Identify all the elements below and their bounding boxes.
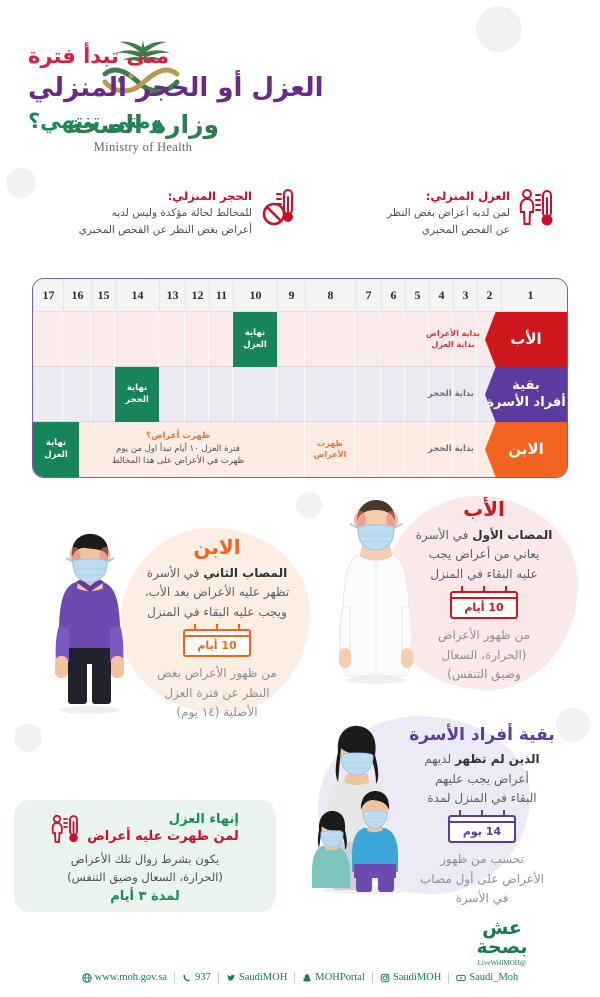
gridline xyxy=(184,367,185,421)
calendar-rings-icon xyxy=(185,624,249,631)
father-start-note: بداية الأعراض بداية العزل xyxy=(421,312,485,367)
day-label: 6 xyxy=(381,279,405,312)
card-lead-son: المصاب الثاني في الأسرة تظهر عليه الأعرا… xyxy=(128,564,306,622)
card-son: الابن المصاب الثاني في الأسرة تظهر عليه … xyxy=(128,534,306,723)
body-line-1: يكون بشرط زوال تلك الأعراض xyxy=(67,850,223,868)
thermometer-person-icon xyxy=(51,813,81,845)
footer-label: Saudi_Moh xyxy=(469,972,518,983)
gridline xyxy=(380,367,381,421)
timeline-tag-family: بقية أفراد الأسرة xyxy=(485,367,567,422)
calendar-family: 14 يوم xyxy=(448,815,516,843)
legend-body-line-2: عن الفحص المخبري xyxy=(387,222,510,238)
legend: العزل المنزلي: لمن لديه أعراض بغض النظر … xyxy=(0,186,600,256)
snapchat-icon xyxy=(302,973,312,983)
live-well-logo-line-2: بصحة xyxy=(452,938,552,957)
card-title-father: الأب xyxy=(398,496,570,522)
gridline xyxy=(90,312,91,366)
page-header: وزارة الصحة Ministry of Health متى تبدأ … xyxy=(0,0,600,178)
day-label: 10 xyxy=(233,279,277,312)
gridline xyxy=(208,367,209,421)
end-cell-line-2: الحجر xyxy=(125,395,149,406)
youtube-icon xyxy=(456,973,466,983)
lead-line-2: يعاني من أعراض يجب xyxy=(398,545,570,564)
father-end-of-isolation-cell: نهاية العزل xyxy=(233,312,277,367)
lead-bold: المصاب الأول xyxy=(472,528,552,542)
tag-line-1: بقية xyxy=(486,378,565,394)
note-line-1: بداية الحجر xyxy=(428,444,474,455)
legend-item-home-isolation: العزل المنزلي: لمن لديه أعراض بغض النظر … xyxy=(308,186,558,238)
footer-label: SaudiMOH xyxy=(239,972,287,983)
calendar-son: 10 أيام xyxy=(183,629,251,657)
card-father: الأب المصاب الأول في الأسرة يعاني من أعر… xyxy=(398,496,570,685)
note-line-1: بداية الحجر xyxy=(428,389,474,400)
gridline xyxy=(114,312,115,366)
calendar-value-son: 10 أيام xyxy=(185,637,249,655)
legend-title: العزل المنزلي: xyxy=(387,188,510,205)
tail-line-3: الأصلية (١٤ يوم) xyxy=(128,703,306,722)
legend-body-line-2: أعراض بغض النظر عن الفحص المخبري xyxy=(79,222,252,238)
gridline xyxy=(380,312,381,366)
end-of-isolation-title-green: إنهاء العزل xyxy=(87,812,239,829)
card-tail-son: من ظهور الأعراض بغض النظر عن فترة العزل … xyxy=(128,664,306,722)
calendar-value-father: 10 أيام xyxy=(452,599,516,617)
day-label: 2 xyxy=(477,279,501,312)
footer-label: SaudiMOH xyxy=(393,972,441,983)
gridline xyxy=(232,367,233,421)
end-of-isolation-header: إنهاء العزل لمن ظهرت عليه أعراض xyxy=(51,812,239,846)
legend-text-home-quarantine: الحجر المنزلي: للمخالط لحالة مؤكدة وليس … xyxy=(79,186,252,238)
timeline-header-row: 17 16 15 14 13 12 11 10 9 8 7 6 5 4 3 2 … xyxy=(33,279,567,312)
lead-bold: المصاب الثاني xyxy=(203,566,287,580)
end-of-isolation-text: إنهاء العزل لمن ظهرت عليه أعراض xyxy=(87,812,239,846)
virus-decoration-icon xyxy=(296,492,322,518)
son-start-note: بداية الحجر xyxy=(421,422,481,477)
card-tail-father: من ظهور الأعراض (الحرارة، السعال وضيق ال… xyxy=(398,626,570,684)
day-label: 11 xyxy=(209,279,233,312)
end-cell-line-2: العزل xyxy=(243,340,267,351)
detail-line-2: ظهرت في الأعراض على هذا المخالط xyxy=(112,455,245,467)
tail-line-3: وضيق التنفس) xyxy=(398,665,570,684)
calendar-rings-icon xyxy=(452,586,516,593)
gridline xyxy=(90,367,91,421)
gridline xyxy=(304,367,305,421)
live-well-logo: عش بصحة @LiveWellMOH xyxy=(452,919,552,967)
lead-line-3: البقاء في المنزل لمدة xyxy=(386,789,578,808)
infographic-page: وزارة الصحة Ministry of Health متى تبدأ … xyxy=(0,0,600,997)
card-lead-family: الذين لم تظهر لديهم أعراض يجب عليهم البق… xyxy=(386,750,578,808)
end-of-isolation-body: يكون بشرط زوال تلك الأعراض (الحرارة، الس… xyxy=(67,850,223,887)
calendar-father: 10 أيام xyxy=(450,591,518,619)
tail-line-1: من ظهور الأعراض xyxy=(398,626,570,645)
detail-question: ظهرت أعراض؟ xyxy=(146,431,210,443)
footer-label: www.moh.gov.sa xyxy=(95,972,167,983)
note-line-2: الأعراض xyxy=(314,450,347,461)
card-lead-father: المصاب الأول في الأسرة يعاني من أعراض يج… xyxy=(398,526,570,584)
note-line-2: بداية العزل xyxy=(431,340,474,351)
page-title: متى تبدأ فترة العزل أو الحجر المنزلي ومت… xyxy=(28,42,358,136)
page-footer: عش بصحة @LiveWellMOH www.moh.gov.sa 937 xyxy=(0,915,600,997)
calendar-rings-icon xyxy=(450,810,514,817)
legend-text-home-isolation: العزل المنزلي: لمن لديه أعراض بغض النظر … xyxy=(387,186,510,238)
instagram-icon xyxy=(380,973,390,983)
tail-line-1: من ظهور الأعراض بغض xyxy=(128,664,306,683)
lead-bold: الذين لم تظهر xyxy=(455,752,540,766)
lead-rest: في الأسرة xyxy=(416,528,469,542)
live-well-logo-line-1: عش xyxy=(452,919,552,938)
day-label: 8 xyxy=(305,279,355,312)
footer-label: MOHPortal xyxy=(315,972,365,983)
end-cell-line-1: نهاية xyxy=(245,328,265,339)
day-label: 3 xyxy=(453,279,477,312)
timeline-tag-son: الابن xyxy=(485,422,567,477)
note-line-1: ظهرت xyxy=(317,439,343,450)
card-title-son: الابن xyxy=(128,534,306,560)
family-start-note: بداية الحجر xyxy=(421,367,481,422)
lead-line-2: أعراض يجب عليهم xyxy=(386,770,578,789)
card-title-family: بقية أفراد الأسرة xyxy=(386,724,578,746)
day-label: 5 xyxy=(405,279,429,312)
day-label: 14 xyxy=(115,279,159,312)
gridline xyxy=(404,422,405,477)
footer-item-website[interactable]: www.moh.gov.sa xyxy=(75,972,175,983)
detail-line-1: فترة العزل ١٠ أيام تبدأ اول من يوم xyxy=(116,443,240,455)
son-isolation-detail: ظهرت أعراض؟ فترة العزل ١٠ أيام تبدأ اول … xyxy=(79,422,277,477)
lead-line-3: عليه البقاء في المنزل xyxy=(398,565,570,584)
day-label: 9 xyxy=(277,279,305,312)
day-label: 1 xyxy=(501,279,559,312)
tail-line-2: النظر عن فترة العزل xyxy=(128,684,306,703)
footer-contact-bar: www.moh.gov.sa 937 SaudiMOH MOHPortal xyxy=(0,972,600,983)
timeline-row-family: بداية الحجر نهاية الحجر بقية أفراد الأسر… xyxy=(33,367,567,422)
globe-icon xyxy=(82,973,92,983)
tail-line-1: تحسب من ظهور xyxy=(386,850,578,869)
gridline xyxy=(158,312,159,366)
legend-title: الحجر المنزلي: xyxy=(79,188,252,205)
note-line-1: بداية الأعراض xyxy=(426,329,480,340)
day-label: 4 xyxy=(429,279,453,312)
legend-body-line-1: للمخالط لحالة مؤكدة وليس لديه xyxy=(79,205,252,221)
gridline xyxy=(380,422,381,477)
day-label: 15 xyxy=(91,279,115,312)
gridline xyxy=(276,367,277,421)
tail-line-2: (الحرارة، السعال xyxy=(398,646,570,665)
timeline-table: 17 16 15 14 13 12 11 10 9 8 7 6 5 4 3 2 … xyxy=(32,278,568,478)
tail-line-2: الأعراض على أول مصاب xyxy=(386,870,578,889)
family-end-of-quarantine-cell: نهاية الحجر xyxy=(115,367,159,422)
son-illustration xyxy=(42,530,138,718)
end-cell-line-2: العزل xyxy=(44,450,68,461)
footer-item-instagram[interactable]: SaudiMOH xyxy=(373,972,449,983)
lead-line-3: ويجب عليه البقاء في المنزل xyxy=(128,603,306,622)
lead-rest: لديهم xyxy=(424,752,451,766)
footer-item-snapchat[interactable]: MOHPortal xyxy=(295,972,373,983)
day-label: 12 xyxy=(185,279,209,312)
phone-icon xyxy=(182,973,192,983)
end-of-isolation-title-red: لمن ظهرت عليه أعراض xyxy=(87,829,239,846)
end-cell-line-1: نهاية xyxy=(127,383,147,394)
day-label: 13 xyxy=(159,279,185,312)
title-line-3: ومتى تنتهي؟ xyxy=(28,107,358,135)
lead-line-2: تظهر عليه الأعراض بعد الأب، xyxy=(128,583,306,602)
timeline-row-son: بداية الحجر ظهرت الأعراض ظهرت أعراض؟ فتر… xyxy=(33,422,567,477)
gridline xyxy=(62,312,63,366)
day-label: 17 xyxy=(33,279,63,312)
legend-body-line-1: لمن لديه أعراض بغض النظر xyxy=(387,205,510,221)
tail-line-3: في الأسرة xyxy=(386,889,578,908)
lead-rest: في الأسرة xyxy=(147,566,200,580)
day-label: 7 xyxy=(355,279,381,312)
body-line-2: (الحرارة، السعال وضيق التنفس) xyxy=(67,868,223,886)
legend-item-home-quarantine: الحجر المنزلي: للمخالط لحالة مؤكدة وليس … xyxy=(50,186,300,238)
thermometer-person-icon xyxy=(518,186,558,228)
gridline xyxy=(184,312,185,366)
end-of-isolation-duration: لمدة ٣ أيام xyxy=(110,889,180,904)
moh-logo-english: Ministry of Health xyxy=(58,140,228,155)
virus-decoration-icon xyxy=(14,724,42,752)
live-well-handle: @LiveWellMOH xyxy=(452,959,552,967)
tag-line-2: أفراد الأسرة xyxy=(486,395,565,411)
card-tail-family: تحسب من ظهور الأعراض على أول مصاب في الأ… xyxy=(386,850,578,908)
timeline-row-father: بداية الأعراض بداية العزل نهاية العزل ال… xyxy=(33,312,567,367)
title-line-2: العزل أو الحجر المنزلي xyxy=(28,70,358,107)
twitter-icon xyxy=(226,973,236,983)
footer-item-youtube[interactable]: Saudi_Moh xyxy=(449,972,525,983)
gridline xyxy=(208,312,209,366)
footer-item-phone[interactable]: 937 xyxy=(175,972,219,983)
day-label: 16 xyxy=(63,279,91,312)
end-of-isolation-box: إنهاء العزل لمن ظهرت عليه أعراض xyxy=(14,800,276,912)
title-line-1: متى تبدأ فترة xyxy=(28,42,358,70)
calendar-value-family: 14 يوم xyxy=(450,823,514,841)
gridline xyxy=(404,312,405,366)
son-symptom-onset-note: ظهرت الأعراض xyxy=(305,422,355,477)
gridline xyxy=(354,367,355,421)
card-family: بقية أفراد الأسرة الذين لم تظهر لديهم أع… xyxy=(386,724,578,909)
timeline-tag-father: الأب xyxy=(485,312,567,367)
son-end-of-isolation-cell: نهاية العزل xyxy=(33,422,79,477)
gridline xyxy=(304,312,305,366)
gridline xyxy=(354,312,355,366)
thermometer-no-entry-icon xyxy=(260,186,300,228)
footer-label: 937 xyxy=(195,972,211,983)
end-cell-line-1: نهاية xyxy=(46,438,66,449)
gridline xyxy=(404,367,405,421)
footer-item-twitter[interactable]: SaudiMOH xyxy=(219,972,295,983)
gridline xyxy=(62,367,63,421)
